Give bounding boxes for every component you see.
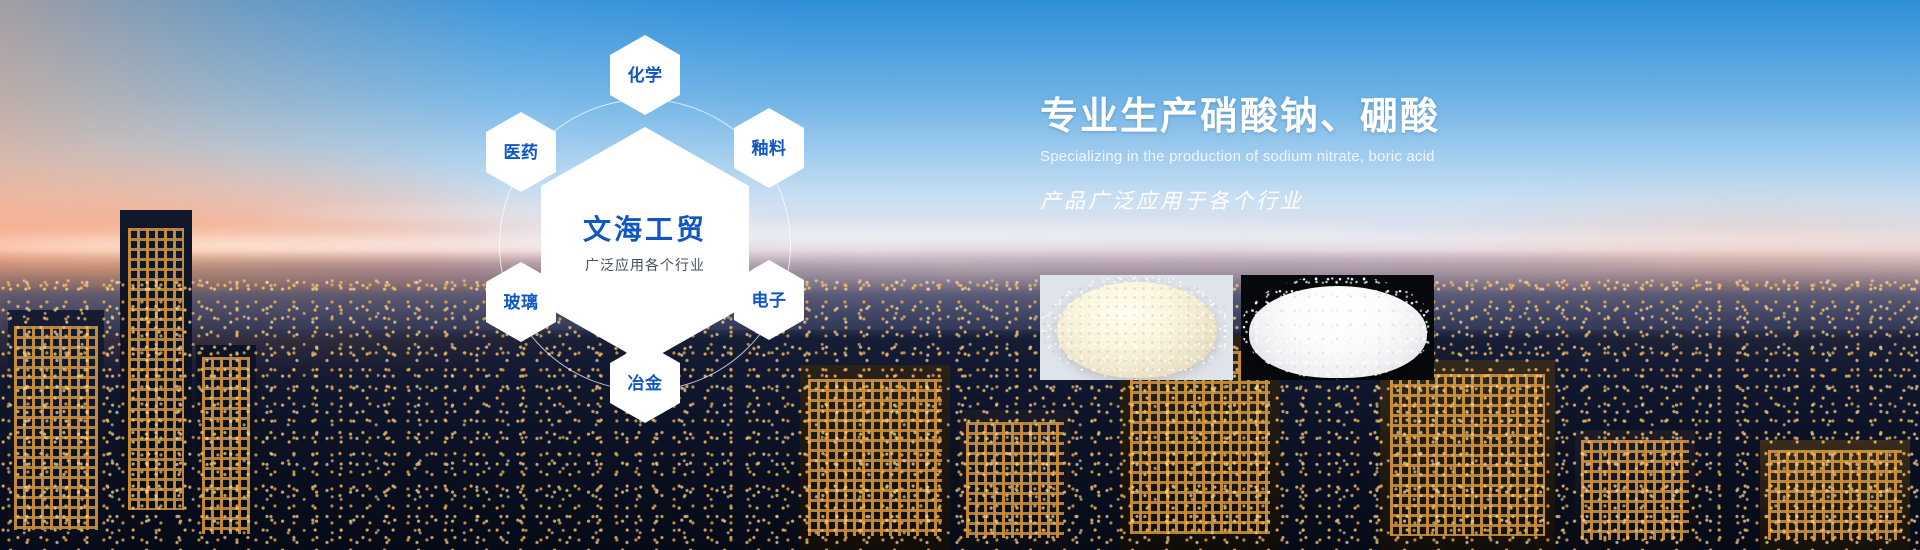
brand-tagline: 广泛应用各个行业 (585, 255, 705, 275)
powder-grain-texture (1241, 275, 1434, 380)
headline-block: 专业生产硝酸钠、硼酸 Specializing in the productio… (1040, 95, 1600, 215)
industry-hexagon-diagram: 化学 医药 釉料 玻璃 电子 冶金 文海工贸 广泛应用各个行业 (430, 30, 860, 460)
product-photo-gallery (1040, 275, 1434, 380)
hero-banner: 化学 医药 釉料 玻璃 电子 冶金 文海工贸 广泛应用各个行业 专业生产硝酸钠、… (0, 0, 1920, 550)
brand-name: 文海工贸 (583, 215, 707, 246)
hex-node-label: 化学 (628, 67, 663, 84)
distant-city-lights (0, 270, 1920, 550)
cloud-streak (1240, 236, 1920, 247)
headline-text: 专业生产硝酸钠、硼酸 (1040, 95, 1600, 140)
hex-node-label: 釉料 (752, 140, 787, 157)
hex-node-label: 玻璃 (504, 294, 539, 311)
subheadline-text: Specializing in the production of sodium… (1040, 148, 1600, 165)
background-image (0, 0, 1920, 550)
hex-node-label: 电子 (752, 292, 787, 309)
hex-node-label: 冶金 (628, 375, 663, 392)
hex-node-label: 医药 (504, 144, 539, 161)
product-photo-sodium-nitrate[interactable] (1040, 275, 1233, 380)
product-photo-boric-acid[interactable] (1241, 275, 1434, 380)
chinese-tagline-text: 产品广泛应用于各个行业 (1040, 185, 1600, 215)
powder-grain-texture (1040, 275, 1233, 380)
